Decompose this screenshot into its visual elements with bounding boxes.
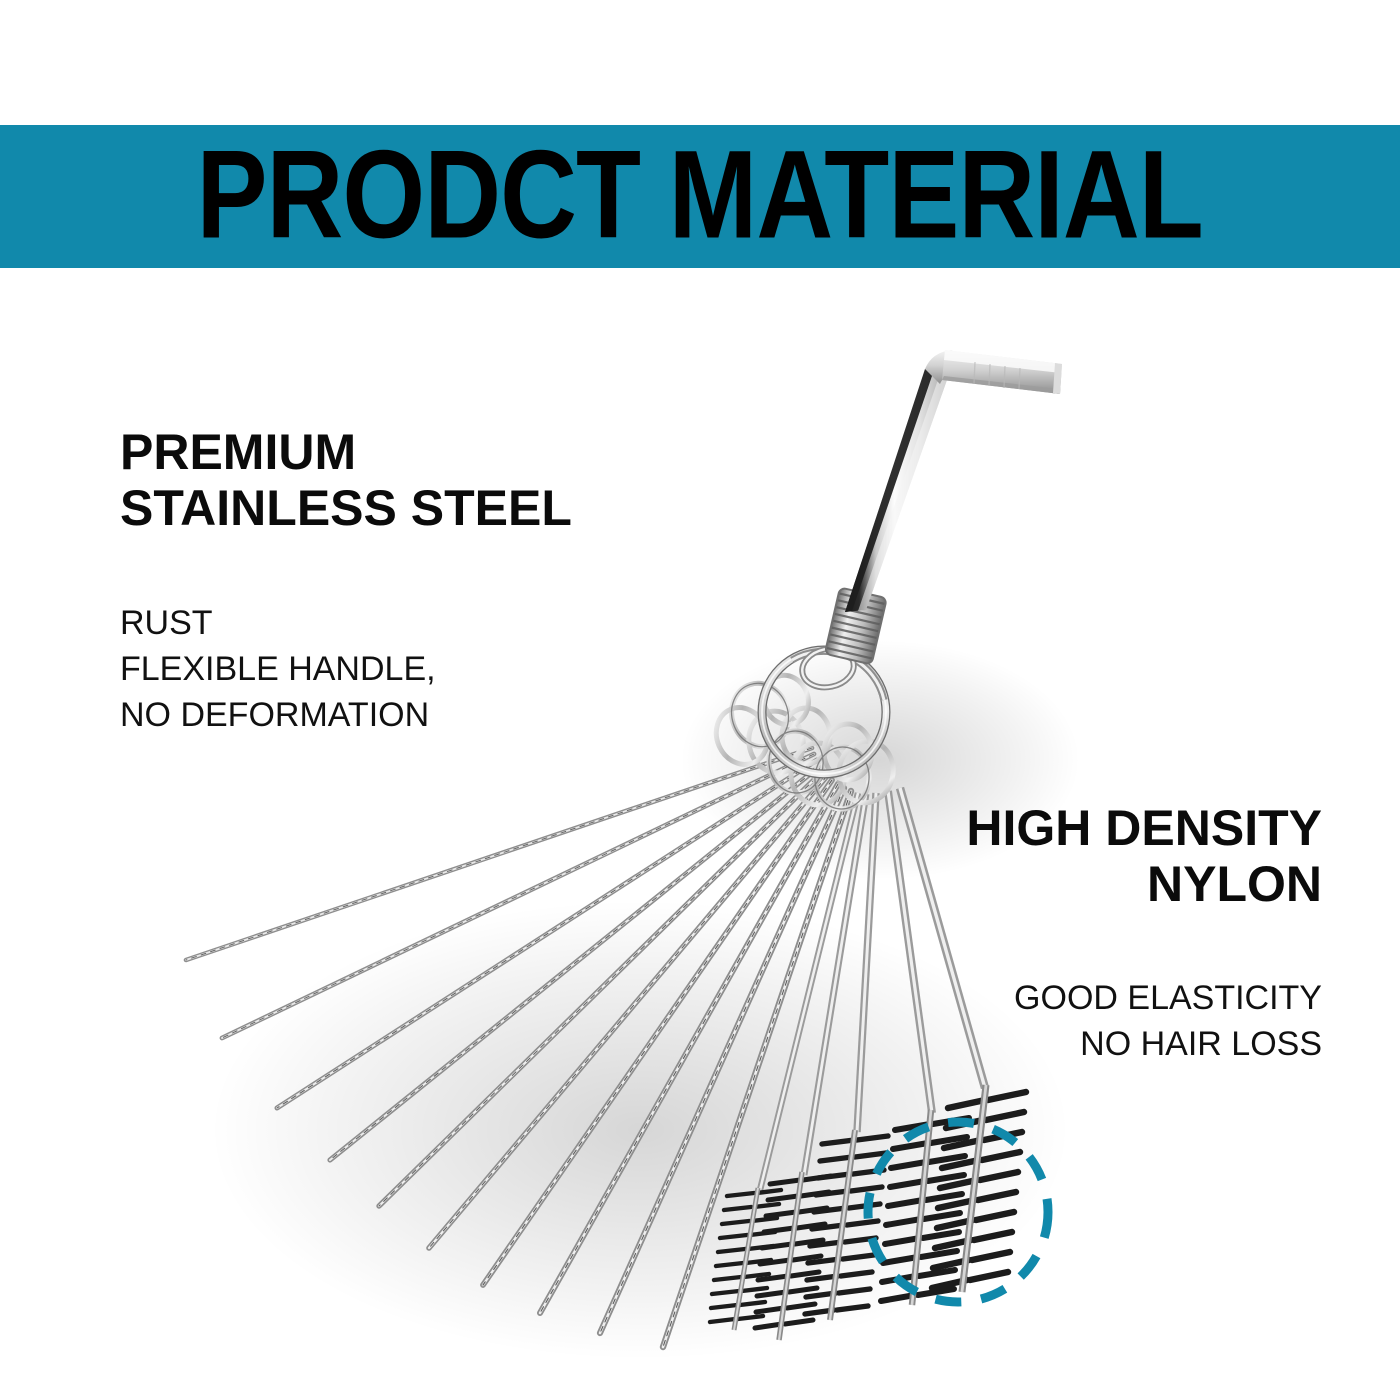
nylon-brush-highlighted [881,791,969,1305]
left-body-line-1: RUST [120,600,436,646]
wire-pick [600,788,844,1333]
wire-pick [330,766,820,1160]
spring-ferrule [825,587,887,664]
bristles [881,1118,969,1301]
wire-pick [540,784,838,1313]
bristles [805,1136,888,1314]
bristles [710,1190,781,1322]
hex-key-handle [845,350,1062,612]
left-callout-heading: PREMIUM STAINLESS STEEL [120,424,572,536]
wire-group [186,748,851,1347]
main-split-ring [762,644,886,774]
infographic-page: PRODCT MATERIAL PREMIUM STAINLESS STEEL … [0,0,1400,1400]
wire-pick [186,748,812,960]
left-body-line-3: NO DEFORMATION [120,692,436,738]
wire-pick [277,760,817,1108]
right-heading-line-1: HIGH DENSITY [966,800,1322,856]
wire-pick [663,791,851,1347]
nylon-brush [710,793,858,1330]
banner-title: PRODCT MATERIAL [197,132,1203,262]
left-heading-line-1: PREMIUM [120,424,572,480]
bristles [932,1092,1026,1288]
header-banner: PRODCT MATERIAL [0,125,1400,268]
left-heading-line-2: STAINLESS STEEL [120,480,572,536]
left-body-line-2: FLEXIBLE HANDLE, [120,646,436,692]
wire-pick [483,780,832,1285]
right-body-line-1: GOOD ELASTICITY [1014,975,1322,1021]
small-rings-highlights [723,676,872,812]
left-callout-body: RUST FLEXIBLE HANDLE, NO DEFORMATION [120,600,436,738]
right-body-line-2: NO HAIR LOSS [1014,1021,1322,1067]
small-rings-cluster [707,669,898,812]
nylon-brush [755,794,866,1340]
right-heading-line-2: NYLON [966,856,1322,912]
nylon-brush [805,793,888,1320]
wire-pick [379,771,823,1206]
bristles [755,1176,831,1328]
brush-fan [186,748,1026,1347]
wire-pick [222,754,814,1038]
highlight-circle [868,1122,1048,1302]
right-callout-body: GOOD ELASTICITY NO HAIR LOSS [1014,975,1322,1067]
product-shadow [210,640,1080,1360]
wire-pick [429,776,827,1248]
right-callout-heading: HIGH DENSITY NYLON [966,800,1322,912]
